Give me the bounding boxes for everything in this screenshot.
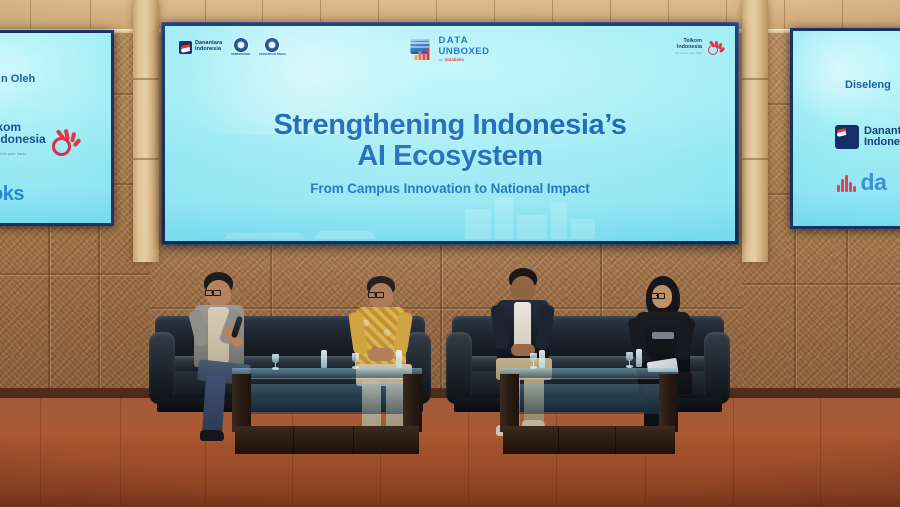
data-unboxed-line2: UNBOXED	[438, 47, 489, 57]
left-screen-logo-line2: ndonesia	[0, 133, 46, 145]
slide-title-line1: Strengthening Indonesia’s	[165, 110, 735, 141]
water-bottle	[321, 350, 327, 368]
byline-brand: databoks	[445, 58, 464, 62]
danantara-line2: Indonesia	[195, 47, 222, 53]
slide-title-line2: AI Ecosystem	[165, 141, 735, 172]
right-screen-danantara-logo: Danantar Indonesia	[835, 125, 900, 149]
telkom-hand-icon	[50, 128, 76, 154]
water-bottle	[539, 350, 545, 368]
danantara-mark-icon	[179, 41, 192, 54]
drinking-glass	[626, 352, 633, 368]
shirt-print	[652, 332, 674, 339]
ministry-seal-icon	[234, 38, 248, 52]
telkom-line2: Indonesia	[675, 45, 702, 51]
slide-title-block: Strengthening Indonesia’s AI Ecosystem F…	[165, 110, 735, 196]
danantara-mark-icon	[835, 125, 859, 149]
slide-partner-logos-left: Danantara Indonesia KEMENTERIAN PERGURUA…	[179, 38, 286, 56]
ministry-seal-2: PERGURUAN TINGGI	[259, 38, 285, 56]
data-unboxed-logo: DATA UNBOXED by databoks	[410, 36, 489, 62]
drinking-glass	[272, 354, 279, 370]
pilaster-left	[133, 0, 159, 262]
side-screen-right: Diseleng Danantar Indonesia da	[793, 31, 900, 226]
side-screen-right-frame: Diseleng Danantar Indonesia da	[790, 28, 900, 229]
telkom-tagline: the world in your hand	[675, 51, 702, 57]
data-unboxed-byline: by databoks	[438, 58, 489, 62]
drinking-glass	[352, 353, 359, 369]
right-screen-databoks-logo: da	[837, 173, 886, 192]
right-screen-heading: Diseleng	[845, 79, 891, 91]
data-unboxed-line1: DATA	[438, 36, 489, 46]
data-unboxed-box-icon	[410, 39, 433, 60]
ministry-seal-1: KEMENTERIAN	[231, 38, 250, 56]
pilaster-right	[742, 0, 768, 262]
leg-lower	[202, 375, 226, 434]
ministry-seal-icon	[265, 38, 279, 52]
byline-prefix: by	[438, 58, 442, 62]
drinking-glass	[530, 353, 537, 369]
stage-floor	[0, 398, 900, 507]
main-presentation-screen: Danantara Indonesia KEMENTERIAN PERGURUA…	[165, 26, 735, 241]
shoe	[200, 430, 224, 441]
side-screen-left: n Oleh lkom ndonesia world in your hand …	[0, 33, 111, 223]
telkom-hand-icon	[706, 40, 721, 55]
data-unboxed-bars-icon	[414, 48, 429, 60]
water-bottle	[396, 350, 402, 368]
left-screen-logo-tagline: world in your hand	[0, 148, 46, 160]
slide-title: Strengthening Indonesia’s AI Ecosystem	[165, 110, 735, 172]
right-screen-logo-line2: Indonesia	[864, 137, 900, 148]
head	[511, 276, 535, 302]
conference-photo: n Oleh lkom ndonesia world in your hand …	[0, 0, 900, 507]
glasses-icon	[205, 290, 232, 294]
glasses-icon	[368, 292, 394, 296]
hands	[368, 348, 394, 361]
coffee-table-left	[232, 368, 422, 456]
databoks-bars-icon	[837, 175, 856, 192]
main-screen-frame: Danantara Indonesia KEMENTERIAN PERGURUA…	[161, 22, 739, 245]
telkom-logo: Telkom Indonesia the world in your hand	[675, 39, 721, 56]
danantara-logo: Danantara Indonesia	[179, 41, 222, 54]
glasses-icon	[651, 293, 674, 297]
slide-logo-bar: Danantara Indonesia KEMENTERIAN PERGURUA…	[165, 38, 735, 64]
left-screen-heading: n Oleh	[1, 73, 35, 85]
slide-subtitle: From Campus Innovation to National Impac…	[165, 181, 735, 196]
coffee-table-right	[500, 368, 678, 456]
left-screen-brand: oks	[0, 183, 24, 206]
water-bottle	[636, 349, 642, 367]
side-screen-left-frame: n Oleh lkom ndonesia world in your hand …	[0, 30, 114, 226]
right-screen-brand: da	[861, 173, 887, 192]
left-screen-telkom-logo: lkom ndonesia world in your hand	[0, 121, 76, 160]
